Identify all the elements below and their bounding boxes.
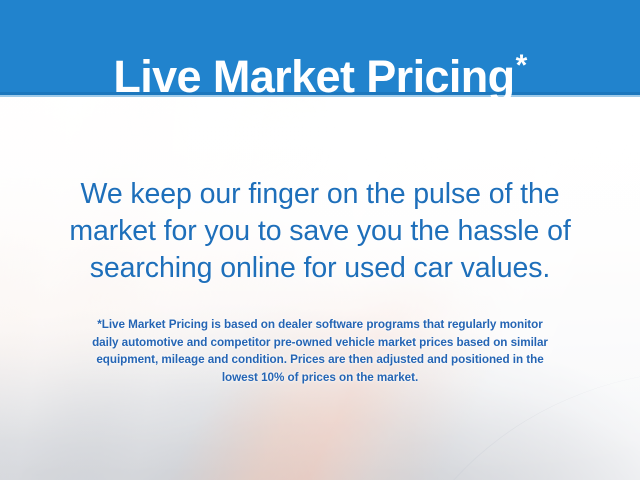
page-title-text: Live Market Pricing <box>113 54 514 99</box>
background-trim-arc <box>378 370 640 480</box>
disclaimer-text: *Live Market Pricing is based on dealer … <box>0 316 640 386</box>
headline-line: searching online for used car values. <box>0 250 640 287</box>
headline-line: market for you to save you the hassle of <box>0 213 640 250</box>
disclaimer-line: daily automotive and competitor pre-owne… <box>0 334 640 352</box>
disclaimer-line: lowest 10% of prices on the market. <box>0 369 640 387</box>
disclaimer-line: *Live Market Pricing is based on dealer … <box>0 316 640 334</box>
headline-line: We keep our finger on the pulse of the <box>0 176 640 213</box>
page-title: Live Market Pricing* <box>0 30 640 122</box>
disclaimer-line: equipment, mileage and condition. Prices… <box>0 351 640 369</box>
live-market-pricing-banner: Live Market Pricing* We keep our finger … <box>0 0 640 480</box>
headline-copy: We keep our finger on the pulse of the m… <box>0 176 640 287</box>
